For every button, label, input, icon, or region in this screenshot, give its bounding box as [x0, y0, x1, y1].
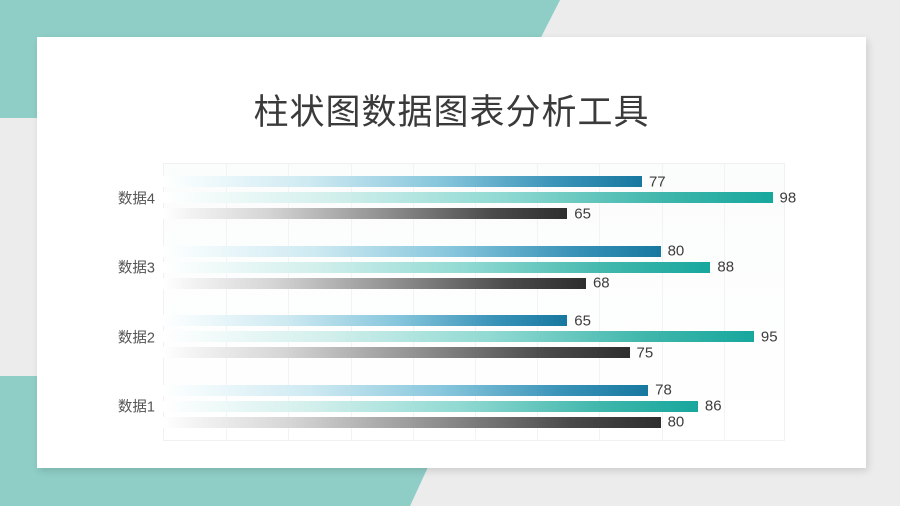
bar-value-label: 65	[574, 312, 591, 329]
bar-row[interactable]: 80	[163, 417, 785, 428]
bar[interactable]	[163, 246, 661, 257]
bar-row[interactable]: 95	[163, 331, 785, 342]
bar-value-label: 80	[668, 243, 685, 260]
bar-row[interactable]: 80	[163, 246, 785, 257]
chart-title: 柱状图数据图表分析工具	[37, 84, 866, 135]
bar-row[interactable]: 68	[163, 278, 785, 289]
bar-value-label: 77	[649, 173, 666, 190]
bar[interactable]	[163, 385, 648, 396]
bar[interactable]	[163, 192, 773, 203]
bar-group: 659575	[163, 315, 785, 358]
bar-group: 808868	[163, 246, 785, 289]
bar-row[interactable]: 77	[163, 176, 785, 187]
bar-row[interactable]: 78	[163, 385, 785, 396]
bar[interactable]	[163, 176, 642, 187]
y-axis-label-数据3: 数据3	[37, 257, 155, 278]
bar-value-label: 75	[637, 344, 654, 361]
bar-value-label: 95	[761, 328, 778, 345]
bar[interactable]	[163, 315, 567, 326]
slide-card: 柱状图数据图表分析工具 数据4数据3数据2数据1 779865808868659…	[37, 37, 866, 468]
bar[interactable]	[163, 262, 710, 273]
bar-value-label: 98	[780, 189, 797, 206]
bar-row[interactable]: 88	[163, 262, 785, 273]
bar-value-label: 65	[574, 205, 591, 222]
bar-row[interactable]: 86	[163, 401, 785, 412]
y-axis-label-数据1: 数据1	[37, 396, 155, 417]
bar[interactable]	[163, 347, 630, 358]
bar[interactable]	[163, 401, 698, 412]
bar-row[interactable]: 75	[163, 347, 785, 358]
bar-row[interactable]: 65	[163, 208, 785, 219]
bar-value-label: 86	[705, 398, 722, 415]
bar[interactable]	[163, 331, 754, 342]
bar-value-label: 80	[668, 414, 685, 431]
bar-value-label: 68	[593, 275, 610, 292]
bar-group: 779865	[163, 176, 785, 219]
y-axis-labels: 数据4数据3数据2数据1	[37, 163, 155, 441]
bar[interactable]	[163, 417, 661, 428]
bar-row[interactable]: 65	[163, 315, 785, 326]
bars-layer: 779865808868659575788680	[163, 163, 785, 441]
bar-value-label: 88	[717, 259, 734, 276]
bar-value-label: 78	[655, 382, 672, 399]
bar[interactable]	[163, 208, 567, 219]
y-axis-label-数据4: 数据4	[37, 187, 155, 208]
bar-chart: 数据4数据3数据2数据1 779865808868659575788680	[163, 163, 785, 441]
bar-row[interactable]: 98	[163, 192, 785, 203]
bar[interactable]	[163, 278, 586, 289]
y-axis-label-数据2: 数据2	[37, 326, 155, 347]
bar-group: 788680	[163, 385, 785, 428]
